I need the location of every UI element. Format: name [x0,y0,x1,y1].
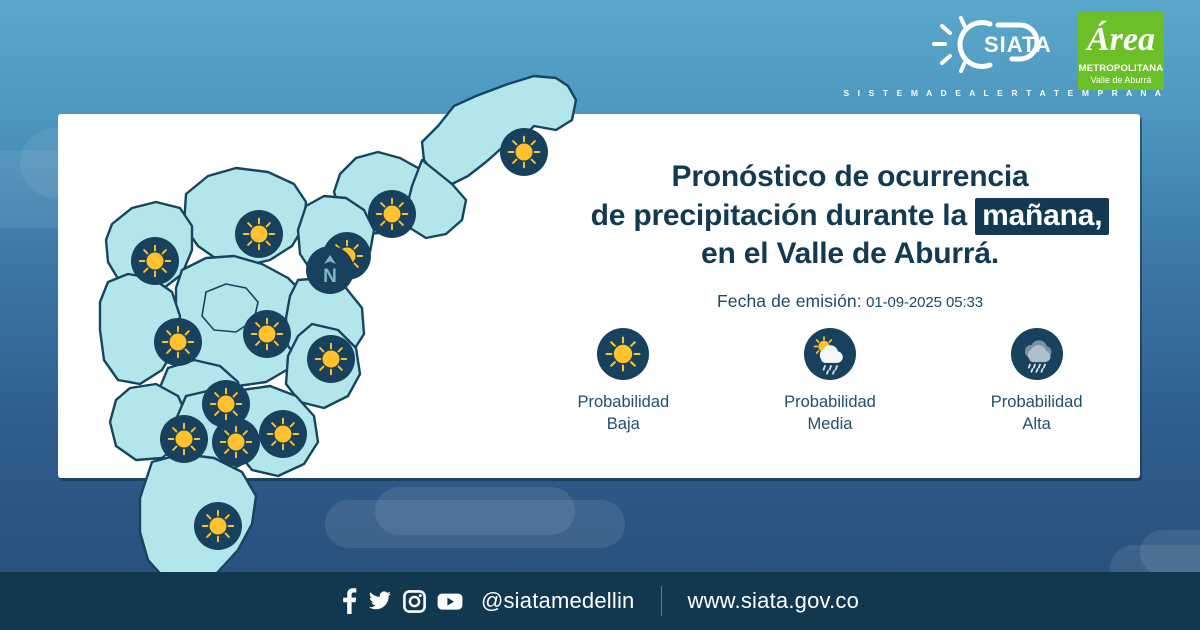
forecast-text-block: Pronóstico de ocurrencia de precipitació… [520,118,1180,312]
header-logos: SIATA Área METROPOLITANA Valle de Aburrá [928,12,1164,90]
legend-alta-line1: Probabilidad [991,392,1083,414]
legend-media-line1: Probabilidad [784,392,876,414]
map-marker-girardota [368,190,416,238]
legend-baja-line1: Probabilidad [577,392,669,414]
title-line-1: Pronóstico de ocurrencia [520,158,1180,197]
area-logo-line1: METROPOLITANA [1079,64,1164,74]
title-line-2-pre: de precipitación durante la [591,199,967,232]
emission-date-label: Fecha de emisión: [717,291,862,311]
website-url[interactable]: www.siata.gov.co [688,588,860,614]
legend-label-baja: Probabilidad Baja [577,392,669,436]
compass-label: N [323,267,337,286]
twitter-icon[interactable] [368,589,392,613]
social-handle[interactable]: @siatamedellin [481,588,635,614]
svg-text:SIATA: SIATA [984,32,1052,57]
sun-icon [597,328,649,380]
area-logo-line2: Valle de Aburrá [1091,75,1152,85]
emission-date-value: 01-09-2025 05:33 [866,294,983,311]
sun-cloud-rain-icon [804,328,856,380]
footer-bar: @siatamedellin www.siata.gov.co [0,572,1200,630]
map-marker-itag [307,335,355,383]
map-marker-caldas [212,418,260,466]
social-links [341,588,463,614]
siata-tagline: S I S T E M A D E A L E R T A T E M P R … [843,88,1164,98]
legend-item-baja: Probabilidad Baja [538,328,708,436]
map-marker-laestrella [160,415,208,463]
rain-cloud-icon [1011,328,1063,380]
area-script-icon: Área [1078,16,1164,62]
title-highlight-manana: mañana, [975,198,1109,235]
background-cloud-6 [1140,530,1200,575]
map-marker-amag [194,502,242,550]
map-marker-angelpolis [259,410,307,458]
youtube-icon[interactable] [437,592,463,611]
emission-date-row: Fecha de emisión: 01-09-2025 05:33 [520,291,1180,312]
legend-label-media: Probabilidad Media [784,392,876,436]
title-line-3: en el Valle de Aburrá. [520,235,1180,274]
map-marker-sanpedro [235,210,283,258]
aburra-valley-map: N [56,34,576,584]
legend-item-media: Probabilidad Media [745,328,915,436]
probability-legend: Probabilidad Baja [520,328,1140,436]
map-marker-bello [131,237,179,285]
legend-item-alta: Probabilidad Alta [952,328,1122,436]
title-line-2: de precipitación durante la mañana, [520,197,1180,236]
legend-baja-line2: Baja [577,414,669,436]
instagram-icon[interactable] [403,590,426,613]
svg-text:Área: Área [1085,21,1155,58]
compass-badge: N [306,246,354,294]
legend-alta-line2: Alta [991,414,1083,436]
page-title: Pronóstico de ocurrencia de precipitació… [520,158,1180,274]
facebook-icon[interactable] [341,588,357,614]
footer-divider [661,586,662,616]
area-metropolitana-logo: Área METROPOLITANA Valle de Aburrá [1078,12,1164,90]
siata-logo: SIATA [928,12,1068,78]
map-marker-envigado [154,318,202,366]
legend-label-alta: Probabilidad Alta [991,392,1083,436]
legend-media-line2: Media [784,414,876,436]
infographic-root: SIATA Área METROPOLITANA Valle de Aburrá… [0,0,1200,630]
map-marker-medelln [243,310,291,358]
